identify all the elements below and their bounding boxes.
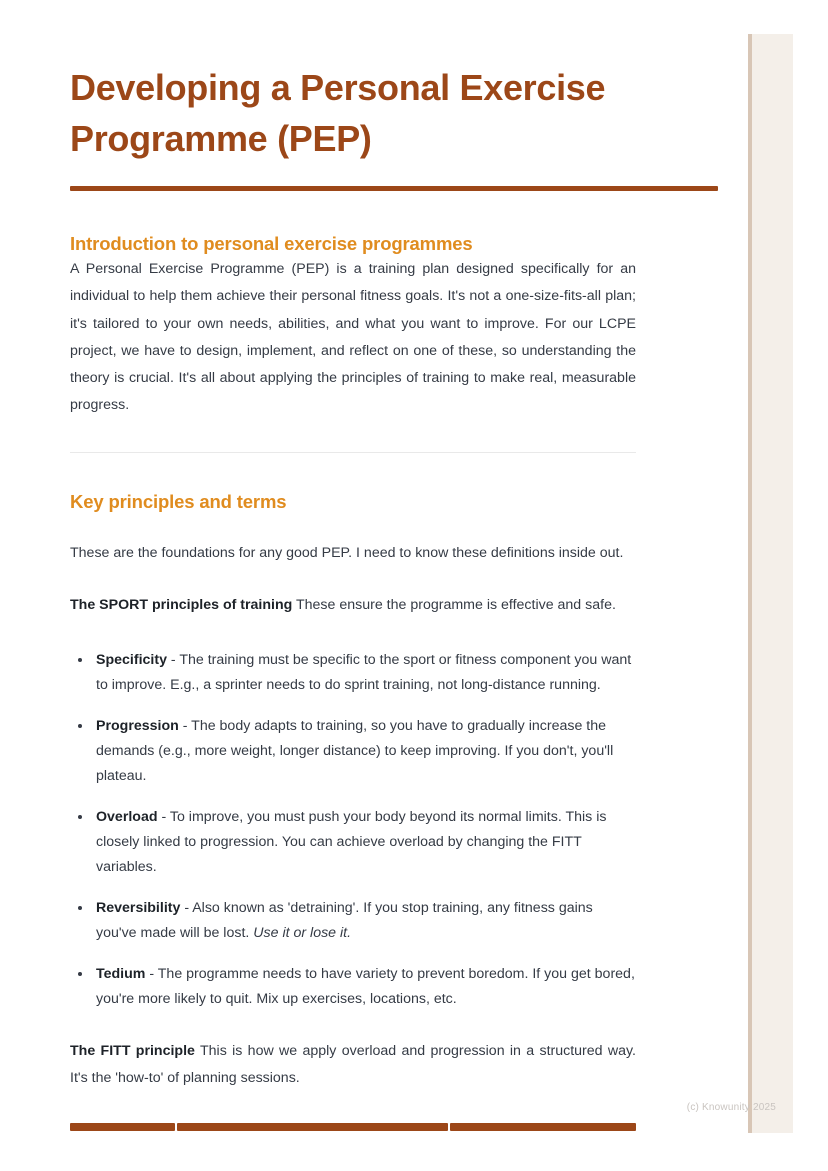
list-item: Reversibility - Also known as 'detrainin…: [70, 896, 636, 946]
table-header-bar: [70, 1123, 636, 1131]
table-header-cell-2: [177, 1123, 448, 1131]
sport-principles-lead-rest: These ensure the programme is effective …: [292, 597, 616, 613]
document-page: Developing a Personal Exercise Programme…: [0, 0, 828, 1171]
principle-term: Reversibility: [96, 900, 180, 916]
key-principles-intro-paragraph: These are the foundations for any good P…: [70, 540, 636, 567]
decorative-side-strip-edge: [748, 34, 752, 1133]
table-header-cell-3: [450, 1123, 636, 1131]
list-item: Tedium - The programme needs to have var…: [70, 962, 636, 1012]
section-heading-key-principles: Key principles and terms: [70, 490, 636, 514]
principle-definition: To improve, you must push your body beyo…: [96, 809, 606, 875]
principle-term: Specificity: [96, 652, 167, 668]
principle-term: Overload: [96, 809, 158, 825]
principle-dash: -: [158, 809, 170, 825]
principle-definition-italic: Use it or lose it.: [253, 925, 351, 941]
sport-principles-list: Specificity - The training must be speci…: [70, 648, 636, 1012]
table-header-cell-1: [70, 1123, 175, 1131]
document-content: Developing a Personal Exercise Programme…: [70, 62, 636, 164]
principle-dash: -: [167, 652, 179, 668]
decorative-side-strip: [748, 34, 793, 1133]
principle-definition: The programme needs to have variety to p…: [96, 966, 635, 1007]
list-item: Specificity - The training must be speci…: [70, 648, 636, 698]
introduction-paragraph: A Personal Exercise Programme (PEP) is a…: [70, 256, 636, 420]
principle-dash: -: [145, 966, 157, 982]
fitt-principle-lead: The FITT principle This is how we apply …: [70, 1038, 636, 1093]
principle-term: Progression: [96, 718, 179, 734]
page-title: Developing a Personal Exercise Programme…: [70, 62, 670, 164]
principle-dash: -: [180, 900, 192, 916]
principle-dash: -: [179, 718, 191, 734]
sport-principles-lead: The SPORT principles of training These e…: [70, 592, 636, 619]
sport-principles-lead-bold: The SPORT principles of training: [70, 597, 292, 613]
watermark: (c) Knowunity 2025: [687, 1102, 776, 1114]
list-item: Progression - The body adapts to trainin…: [70, 714, 636, 789]
principle-term: Tedium: [96, 966, 145, 982]
title-underline-rule: [70, 186, 718, 191]
section-introduction: Introduction to personal exercise progra…: [70, 232, 636, 453]
section-heading-introduction: Introduction to personal exercise progra…: [70, 232, 636, 256]
section-key-principles: Key principles and terms These are the f…: [70, 490, 636, 1092]
list-item: Overload - To improve, you must push you…: [70, 805, 636, 880]
section-divider: [70, 452, 636, 453]
fitt-principle-lead-bold: The FITT principle: [70, 1043, 195, 1059]
